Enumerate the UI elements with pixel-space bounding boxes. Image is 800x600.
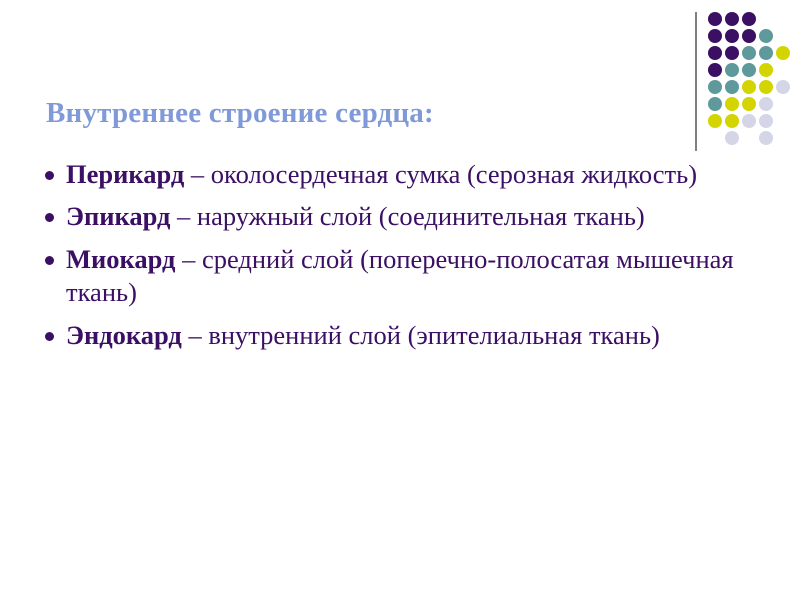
dot-grid-cell [725, 12, 739, 26]
list-item-term: Эндокард [66, 320, 182, 350]
dot-grid-cell [708, 29, 722, 43]
dot-grid-cell [742, 63, 756, 77]
dot-grid-cell [725, 80, 739, 94]
dot-grid-cell [776, 80, 790, 94]
dot-grid-cell [742, 97, 756, 111]
dot-grid-cell [742, 12, 756, 26]
dot-grid-cell [725, 46, 739, 60]
bullet-point-icon [45, 332, 54, 341]
dot-grid-cell [742, 29, 756, 43]
dot-grid-cell [725, 97, 739, 111]
dot-grid-cell [776, 46, 790, 60]
dot-grid-cell [742, 46, 756, 60]
decorative-dot-grid [688, 6, 800, 151]
list-item-description: – наружный слой (соединительная ткань) [170, 201, 644, 231]
page-title: Внутреннее строение сердца: [46, 97, 676, 130]
dot-grid-cell [742, 114, 756, 128]
dot-grid-cell [759, 46, 773, 60]
dot-grid-cell [708, 46, 722, 60]
dot-grid-cell [725, 114, 739, 128]
dot-grid-cell [725, 63, 739, 77]
list-item-term: Эпикард [66, 201, 170, 231]
dot-grid-cell [725, 29, 739, 43]
dot-grid-cell [759, 29, 773, 43]
dot-grid-dots [708, 12, 800, 148]
bullet-point-icon [45, 171, 54, 180]
dot-grid-cell [759, 97, 773, 111]
dot-grid-cell [708, 63, 722, 77]
list-item-term: Перикард [66, 159, 184, 189]
dot-grid-cell [759, 80, 773, 94]
dot-grid-cell [725, 131, 739, 145]
slide-canvas: Внутреннее строение сердца: Перикард – о… [0, 0, 800, 600]
dot-grid-cell [759, 114, 773, 128]
list-item: Перикард – околосердечная сумка (серозна… [34, 158, 734, 191]
dot-grid-cell [708, 12, 722, 26]
bullet-point-icon [45, 256, 54, 265]
vertical-rule-divider [695, 12, 697, 151]
dot-grid-cell [708, 80, 722, 94]
list-item-description: – околосердечная сумка (серозная жидкост… [184, 159, 697, 189]
list-item: Эпикард – наружный слой (соединительная … [34, 200, 734, 233]
bullet-list: Перикард – околосердечная сумка (серозна… [34, 158, 734, 361]
list-item: Эндокард – внутренний слой (эпителиальна… [34, 319, 734, 352]
list-item-term: Миокард [66, 244, 175, 274]
dot-grid-cell [742, 80, 756, 94]
dot-grid-cell [708, 114, 722, 128]
dot-grid-cell [759, 63, 773, 77]
bullet-point-icon [45, 213, 54, 222]
list-item-description: – внутренний слой (эпителиальная ткань) [182, 320, 660, 350]
dot-grid-cell [759, 131, 773, 145]
list-item: Миокард – средний слой (поперечно-полоса… [34, 243, 734, 310]
dot-grid-cell [708, 97, 722, 111]
